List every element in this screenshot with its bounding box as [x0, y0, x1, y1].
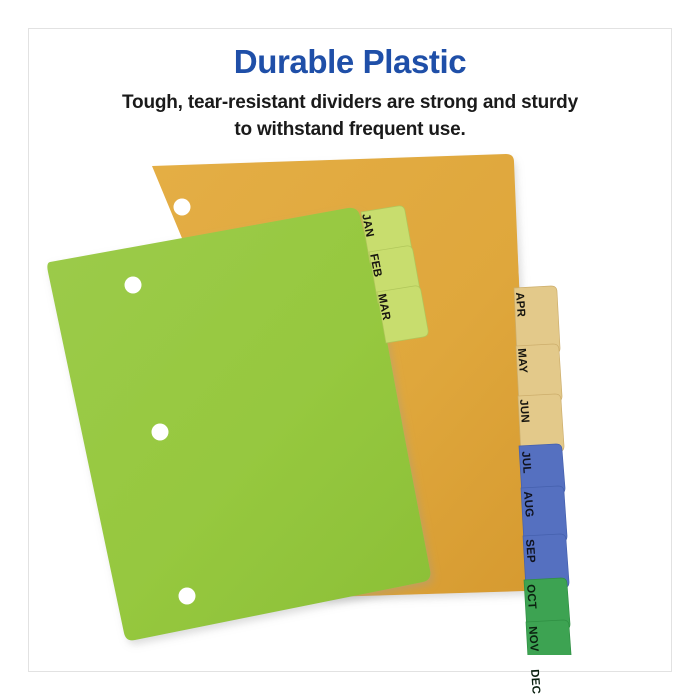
tab-group-apr-jun: [514, 286, 564, 454]
punch-hole-green-2: [152, 424, 169, 441]
tab-group-jul-sep: [519, 444, 569, 590]
divider-product-photo: JAN FEB MAR APR MAY JUN JUL AUG SEP OCT …: [30, 150, 670, 655]
page-title: Durable Plastic: [0, 44, 700, 80]
tab-label-dec: DEC: [528, 669, 541, 695]
subtitle-line-2: to withstand frequent use.: [0, 117, 700, 144]
product-image-canvas: Durable Plastic Tough, tear-resistant di…: [0, 0, 700, 700]
punch-hole-green-3: [179, 588, 196, 605]
marketing-copy-block: Durable Plastic Tough, tear-resistant di…: [0, 44, 700, 144]
punch-hole-orange: [174, 199, 191, 216]
punch-hole-green-1: [125, 277, 142, 294]
subtitle-line-1: Tough, tear-resistant dividers are stron…: [0, 90, 700, 117]
tab-group-oct-dec: [524, 578, 574, 655]
